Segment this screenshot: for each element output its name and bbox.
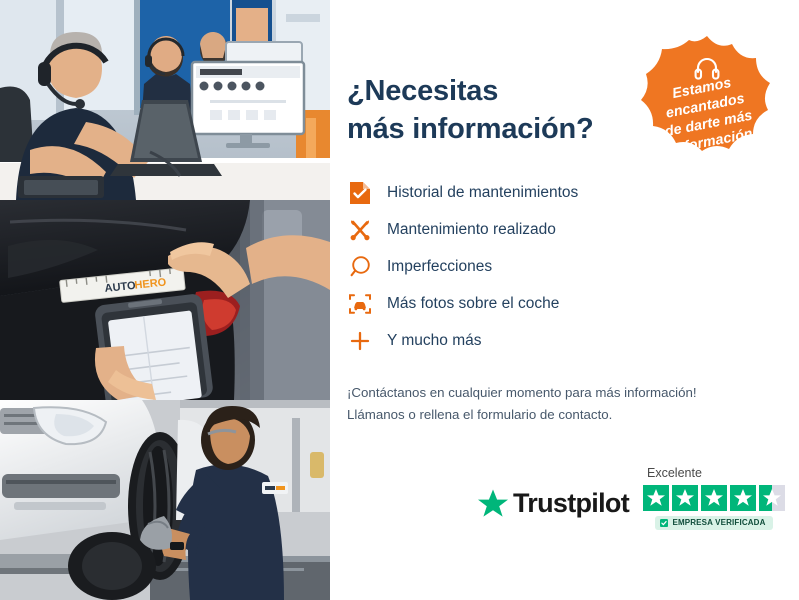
trustpilot-rating[interactable]: Trustpilot Excelente xyxy=(478,467,785,530)
verified-label: EMPRESA VERIFICADA xyxy=(672,519,765,527)
magnifier-icon xyxy=(347,254,373,280)
star-filled-icon xyxy=(672,485,698,511)
content-pane: ¿Necesitas más información? Historial de… xyxy=(330,0,799,600)
status-badge: Estamos encantados de darte más informac… xyxy=(626,33,788,195)
verified-check-icon xyxy=(660,519,668,527)
headline-line-2: más información? xyxy=(347,110,637,148)
document-check-icon xyxy=(347,180,373,206)
feature-label: Imperfecciones xyxy=(387,259,492,275)
trustpilot-logo: Trustpilot xyxy=(478,489,629,518)
feature-label: Historial de mantenimientos xyxy=(387,185,578,201)
list-item: Imperfecciones xyxy=(347,249,769,286)
verified-business-badge: EMPRESA VERIFICADA xyxy=(655,516,772,530)
trustpilot-star-icon xyxy=(478,489,508,518)
car-photo-frame-icon xyxy=(347,291,373,317)
star-rating xyxy=(643,485,785,511)
headline-line-1: ¿Necesitas xyxy=(347,72,637,110)
list-item: Mantenimiento realizado xyxy=(347,212,769,249)
call-center-agents-photo xyxy=(0,0,330,200)
feature-label: Y mucho más xyxy=(387,333,481,349)
list-item: Y mucho más xyxy=(347,323,769,360)
trustpilot-score-block: Excelente xyxy=(643,467,785,530)
contact-line-2: Llámanos o rellena el formulario de cont… xyxy=(347,404,769,427)
info-banner: AUTO HERO xyxy=(0,0,799,600)
star-filled-icon xyxy=(643,485,669,511)
plus-icon xyxy=(347,328,373,354)
contact-line-1: ¡Contáctanos en cualquier momento para m… xyxy=(347,382,769,405)
photo-collage: AUTO HERO xyxy=(0,0,330,600)
feature-label: Más fotos sobre el coche xyxy=(387,296,559,312)
trustpilot-wordmark: Trustpilot xyxy=(513,490,629,517)
feature-list: Historial de mantenimientos M xyxy=(347,175,769,360)
trustpilot-rating-label: Excelente xyxy=(643,467,702,480)
list-item: Más fotos sobre el coche xyxy=(347,286,769,323)
crossed-tools-icon xyxy=(347,217,373,243)
feature-label: Mantenimiento realizado xyxy=(387,222,556,238)
star-filled-icon xyxy=(701,485,727,511)
car-inspection-tablet-photo: AUTO HERO xyxy=(0,200,330,400)
star-filled-icon xyxy=(730,485,756,511)
star-half-icon xyxy=(759,485,785,511)
contact-copy: ¡Contáctanos en cualquier momento para m… xyxy=(347,382,769,428)
page-title: ¿Necesitas más información? xyxy=(347,72,637,149)
mechanic-wheel-photo xyxy=(0,400,330,600)
